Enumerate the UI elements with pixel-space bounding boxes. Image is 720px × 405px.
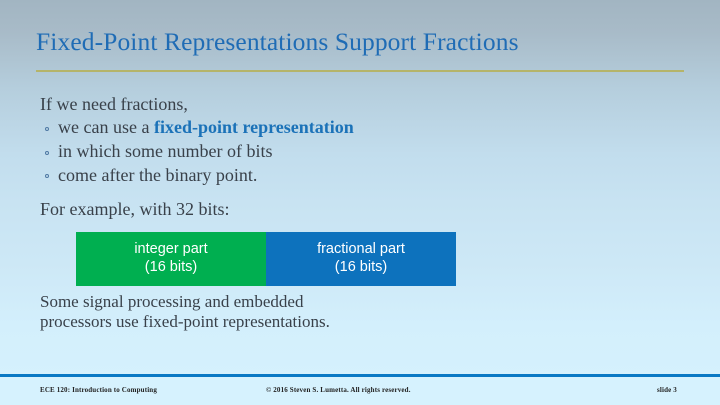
bullet-text-3: come after the binary point. [58, 165, 257, 185]
footer-course-name: ECE 120: Introduction to Computing [40, 386, 157, 394]
bullet-circle-icon [45, 151, 49, 155]
body-content: If we need fractions, we can use a fixed… [40, 93, 680, 222]
integer-part-field: integer part (16 bits) [76, 232, 266, 286]
bullet-item-2: in which some number of bits [40, 140, 680, 164]
closing-line-1: Some signal processing and embedded [40, 292, 680, 312]
slide-footer: ECE 120: Introduction to Computing © 201… [0, 386, 720, 398]
page-title: Fixed-Point Representations Support Frac… [36, 29, 684, 56]
example-line: For example, with 32 bits: [40, 198, 680, 221]
fractional-part-size: (16 bits) [335, 259, 387, 277]
lead-line: If we need fractions, [40, 93, 680, 116]
footer-slide-number: slide 3 [657, 386, 677, 394]
integer-part-size: (16 bits) [145, 259, 197, 277]
bullet-emphasis-1: fixed-point representation [154, 117, 354, 137]
bullet-text-1: we can use a [58, 117, 154, 137]
bullet-item-3: come after the binary point. [40, 164, 680, 188]
fractional-part-field: fractional part (16 bits) [266, 232, 456, 286]
fixed-point-field-diagram: integer part (16 bits) fractional part (… [76, 232, 456, 286]
title-block: Fixed-Point Representations Support Frac… [36, 29, 684, 56]
footer-divider-rule [0, 374, 720, 377]
bullet-text-2: in which some number of bits [58, 141, 272, 161]
slide-canvas: Fixed-Point Representations Support Frac… [0, 0, 720, 405]
footer-copyright: © 2016 Steven S. Lumetta. All rights res… [266, 386, 411, 394]
integer-part-label: integer part [134, 241, 207, 259]
bullet-list: we can use a fixed-point representation … [40, 116, 680, 187]
bullet-circle-icon [45, 127, 49, 131]
title-underline-rule [36, 70, 684, 72]
bullet-circle-icon [45, 174, 49, 178]
closing-line-2: processors use fixed-point representatio… [40, 312, 680, 332]
fractional-part-label: fractional part [317, 241, 405, 259]
bullet-item-1: we can use a fixed-point representation [40, 116, 680, 140]
closing-text-block: Some signal processing and embedded proc… [40, 292, 680, 332]
